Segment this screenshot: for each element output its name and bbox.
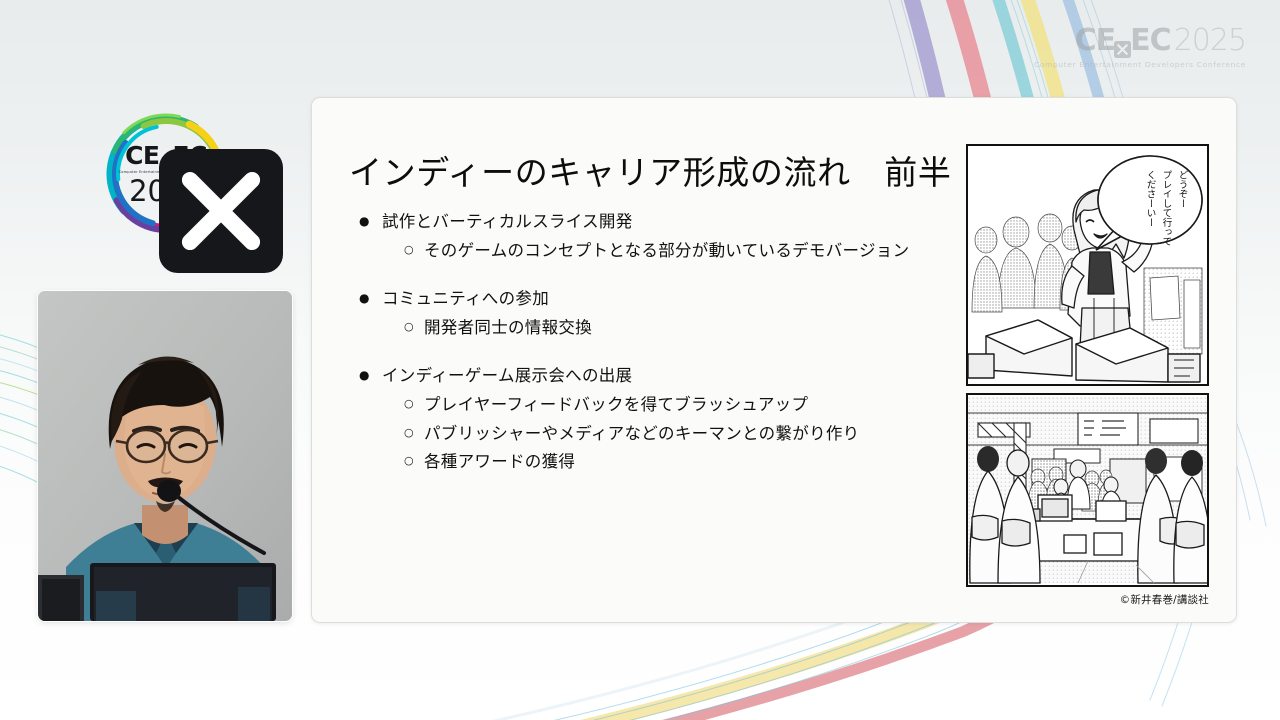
watermark-letters-before: CE	[1075, 26, 1116, 56]
slide-bullet-list: ● 試作とバーティカルスライス開発 ○ そのゲームのコンセプトとなる部分が動いて…	[352, 210, 962, 474]
slide-title: インディーのキャリア形成の流れ 前半	[349, 146, 952, 194]
watermark-year: 2025	[1174, 26, 1246, 56]
circle-logo-letters-before: CE	[125, 143, 159, 168]
bullet-level1: ● 試作とバーティカルスライス開発	[352, 210, 962, 234]
cedec-circle-logo: CE EC Computer Entertainment Developers …	[104, 112, 228, 236]
bullet-level2: ○ そのゲームのコンセプトとなる部分が動いているデモバージョン	[352, 239, 962, 263]
bullet-level1: ● コミュニティへの参加	[352, 287, 962, 311]
bullet-level2-text: 開発者同士の情報交換	[424, 316, 592, 340]
bullet-block: ● 試作とバーティカルスライス開発 ○ そのゲームのコンセプトとなる部分が動いて…	[352, 210, 962, 263]
manga-illustration-group: どうぞー プレイして行って くださーいー	[966, 144, 1209, 607]
bullet-marker-hollow-icon: ○	[352, 422, 424, 445]
svg-text:くださーいー: くださーいー	[1145, 170, 1157, 227]
manga-copyright-credit: ©新井春巻/講談社	[966, 592, 1209, 607]
watermark-x-icon	[1114, 34, 1131, 51]
bullet-level2: ○ パブリッシャーやメディアなどのキーマンとの繋がり作り	[352, 422, 962, 446]
bullet-level1-text: インディーゲーム展示会への出展	[382, 364, 632, 388]
slide-card: インディーのキャリア形成の流れ 前半 ● 試作とバーティカルスライス開発 ○ そ…	[311, 97, 1237, 623]
cedec-watermark: CE EC 2025 Computer Entertainment Develo…	[1034, 26, 1246, 69]
cedec-x-icon	[159, 149, 174, 164]
presenter-camera-feed	[38, 291, 292, 621]
circle-logo-wordmark: CE EC	[125, 143, 207, 168]
watermark-tagline: Computer Entertainment Developers Confer…	[1034, 60, 1246, 69]
bullet-level2-text: そのゲームのコンセプトとなる部分が動いているデモバージョン	[424, 239, 909, 263]
bullet-level2: ○ 開発者同士の情報交換	[352, 316, 962, 340]
bullet-level2-text: 各種アワードの獲得	[424, 450, 575, 474]
manga-panel-expo-hall	[966, 393, 1209, 587]
bullet-marker-filled-icon: ●	[352, 287, 382, 310]
svg-text:どうぞー: どうぞー	[1177, 170, 1189, 208]
bullet-level1-text: 試作とバーティカルスライス開発	[382, 210, 633, 234]
bullet-level2: ○ 各種アワードの獲得	[352, 450, 962, 474]
bullet-level1: ● インディーゲーム展示会への出展	[352, 364, 962, 388]
svg-text:プレイして行って: プレイして行って	[1161, 170, 1173, 246]
bullet-marker-hollow-icon: ○	[352, 316, 424, 339]
bullet-marker-filled-icon: ●	[352, 210, 382, 233]
bullet-level2-text: プレイヤーフィードバックを得てブラッシュアップ	[424, 393, 808, 417]
bullet-marker-filled-icon: ●	[352, 364, 382, 387]
manga-panel-booth-girl: どうぞー プレイして行って くださーいー	[966, 144, 1209, 386]
watermark-wordmark: CE EC	[1075, 26, 1171, 56]
bullet-level2-text: パブリッシャーやメディアなどのキーマンとの繋がり作り	[424, 422, 859, 446]
bullet-marker-hollow-icon: ○	[352, 239, 424, 262]
bullet-level1-text: コミュニティへの参加	[382, 287, 549, 311]
bullet-block: ● コミュニティへの参加 ○ 開発者同士の情報交換	[352, 287, 962, 340]
presentation-stage: CE EC Computer Entertainment Developers …	[0, 0, 1280, 720]
watermark-letters-after: EC	[1130, 26, 1171, 56]
bullet-level2: ○ プレイヤーフィードバックを得てブラッシュアップ	[352, 393, 962, 417]
bullet-marker-hollow-icon: ○	[352, 450, 424, 473]
bullet-block: ● インディーゲーム展示会への出展 ○ プレイヤーフィードバックを得てブラッシュ…	[352, 364, 962, 475]
bullet-marker-hollow-icon: ○	[352, 393, 424, 416]
